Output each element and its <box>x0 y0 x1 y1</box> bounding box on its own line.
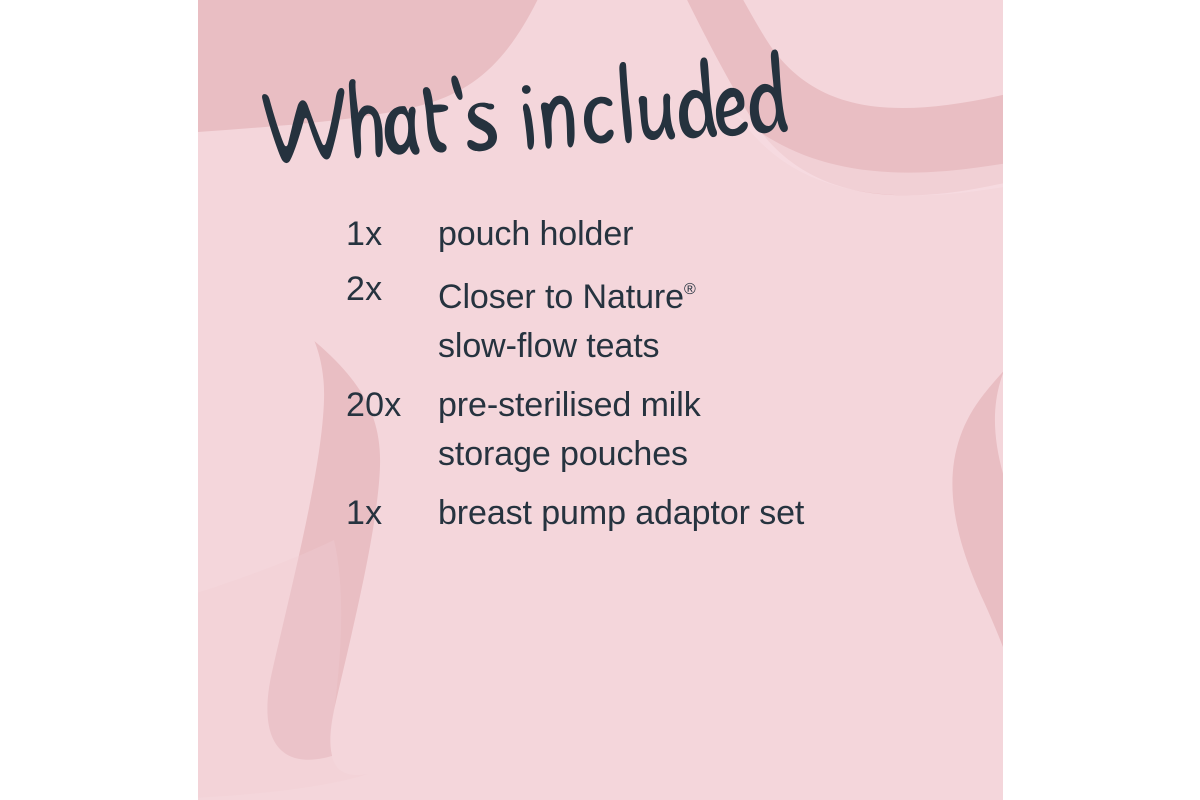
panel-content: What's included <box>198 0 1003 800</box>
included-items-list: 1x pouch holder 2x Closer to Nature®slow… <box>346 210 986 544</box>
list-item: 2x Closer to Nature®slow-flow teats <box>346 265 986 371</box>
list-item: 1x pouch holder <box>346 210 986 259</box>
item-quantity: 2x <box>346 265 438 314</box>
list-item: 20x pre-sterilised milk storage pouches <box>346 381 986 479</box>
item-description: breast pump adaptor set <box>438 489 986 538</box>
item-quantity: 1x <box>346 210 438 259</box>
item-description-suffix: slow-flow teats <box>438 327 659 365</box>
list-item: 1x breast pump adaptor set <box>346 489 986 538</box>
page-title: What's included <box>258 58 778 168</box>
item-quantity: 1x <box>346 489 438 538</box>
page-title-artwork: What's included <box>258 58 778 168</box>
item-description: pre-sterilised milk storage pouches <box>438 381 986 479</box>
pink-panel: What's included <box>198 0 1003 800</box>
item-quantity: 20x <box>346 381 438 430</box>
item-description-prefix: Closer to Nature <box>438 278 684 316</box>
item-description: pouch holder <box>438 210 986 259</box>
registered-trademark-icon: ® <box>684 281 696 298</box>
item-description: Closer to Nature®slow-flow teats <box>438 265 986 371</box>
page-canvas: What's included <box>0 0 1200 800</box>
